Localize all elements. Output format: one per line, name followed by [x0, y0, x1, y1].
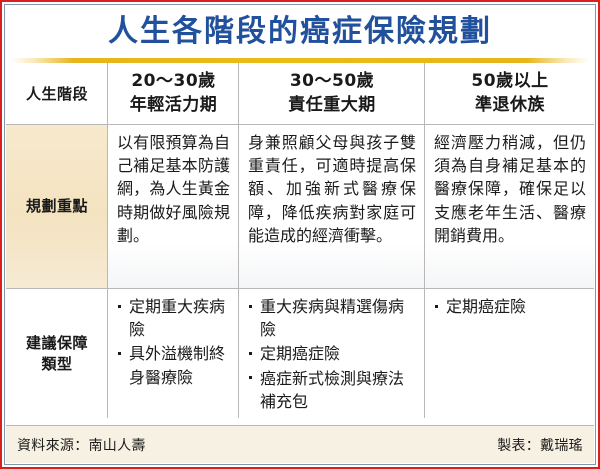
list-item-label: 定期癌症險	[260, 344, 340, 363]
bullet-list: 重大疾病與精選傷病險定期癌症險癌症新式檢測與療法補充包	[248, 295, 416, 413]
cell-suggested-coverage-stage-1: 定期重大疾病險具外溢機制終身醫療險	[107, 289, 238, 418]
list-item-label: 定期癌症險	[446, 297, 526, 316]
bullet-dot-icon	[118, 305, 121, 308]
cell-text: 經濟壓力稍減，但仍須為自身補足基本的醫療保障，確保足以支應老年生活、醫療開銷費用…	[434, 131, 586, 247]
row-label-suggested-coverage: 建議保障 類型	[26, 333, 88, 374]
infographic-root: 人生各階段的癌症保險規劃 人生階段 20～30歲 年輕活力期 30～50歲 責任…	[0, 0, 600, 469]
cell-planning-focus-stage-2: 身兼照顧父母與孩子雙重責任，可適時提高保額、加強新式醫療保障，降低疾病對家庭可能…	[238, 125, 424, 288]
footer-bar: 資料來源：南山人壽 製表：戴瑞瑤	[6, 425, 594, 463]
row-label-cell-suggested-coverage: 建議保障 類型	[6, 289, 107, 418]
row-label-cell-planning-focus: 規劃重點	[6, 125, 107, 288]
cell-text: 以有限預算為自己補足基本防護網，為人生黃金時期做好風險規劃。	[117, 131, 230, 247]
header-stage-3-text: 50歲以上 準退休族	[471, 70, 548, 117]
table-row: 規劃重點 以有限預算為自己補足基本防護網，為人生黃金時期做好風險規劃。 身兼照顧…	[6, 124, 594, 288]
page-title: 人生各階段的癌症保險規劃	[108, 17, 492, 47]
header-row-label: 人生階段	[26, 83, 88, 104]
header-cell-stage-3: 50歲以上 準退休族	[424, 63, 594, 124]
footer-author: 製表：戴瑞瑤	[497, 435, 583, 455]
content-sheet: 人生各階段的癌症保險規劃 人生階段 20～30歲 年輕活力期 30～50歲 責任…	[6, 6, 594, 463]
bullet-list: 定期重大疾病險具外溢機制終身醫療險	[117, 295, 230, 389]
cell-text: 身兼照顧父母與孩子雙重責任，可適時提高保額、加強新式醫療保障，降低疾病對家庭可能…	[248, 131, 416, 247]
list-item: 具外溢機制終身醫療險	[117, 342, 230, 388]
cell-planning-focus-stage-3: 經濟壓力稍減，但仍須為自身補足基本的醫療保障，確保足以支應老年生活、醫療開銷費用…	[424, 125, 594, 288]
row-label-planning-focus: 規劃重點	[26, 196, 88, 216]
header-stage-1-text: 20～30歲 年輕活力期	[130, 70, 218, 117]
bullet-dot-icon	[249, 305, 252, 308]
table-row: 建議保障 類型 定期重大疾病險具外溢機制終身醫療險 重大疾病與精選傷病險定期癌症…	[6, 288, 594, 418]
cell-suggested-coverage-stage-3: 定期癌症險	[424, 289, 594, 418]
bullet-dot-icon	[435, 305, 438, 308]
title-bar: 人生各階段的癌症保險規劃	[6, 6, 594, 58]
list-item: 定期癌症險	[434, 295, 586, 318]
stage-plan-table: 人生階段 20～30歲 年輕活力期 30～50歲 責任重大期 50歲以上 準退休…	[6, 63, 594, 418]
bullet-dot-icon	[249, 352, 252, 355]
header-row-label-cell: 人生階段	[6, 63, 107, 124]
cell-suggested-coverage-stage-2: 重大疾病與精選傷病險定期癌症險癌症新式檢測與療法補充包	[238, 289, 424, 418]
list-item-label: 癌症新式檢測與療法補充包	[260, 369, 404, 411]
header-cell-stage-1: 20～30歲 年輕活力期	[107, 63, 238, 124]
table-header-row: 人生階段 20～30歲 年輕活力期 30～50歲 責任重大期 50歲以上 準退休…	[6, 63, 594, 124]
list-item: 定期癌症險	[248, 342, 416, 365]
cell-planning-focus-stage-1: 以有限預算為自己補足基本防護網，為人生黃金時期做好風險規劃。	[107, 125, 238, 288]
footer-source: 資料來源：南山人壽	[17, 435, 146, 455]
bullet-dot-icon	[249, 376, 252, 379]
list-item: 重大疾病與精選傷病險	[248, 295, 416, 341]
header-stage-2-text: 30～50歲 責任重大期	[288, 70, 376, 117]
list-item-label: 具外溢機制終身醫療險	[129, 344, 225, 386]
list-item: 定期重大疾病險	[117, 295, 230, 341]
list-item-label: 重大疾病與精選傷病險	[260, 297, 404, 339]
header-cell-stage-2: 30～50歲 責任重大期	[238, 63, 424, 124]
list-item: 癌症新式檢測與療法補充包	[248, 367, 416, 413]
bullet-list: 定期癌症險	[434, 295, 586, 318]
bullet-dot-icon	[118, 352, 121, 355]
list-item-label: 定期重大疾病險	[129, 297, 225, 339]
